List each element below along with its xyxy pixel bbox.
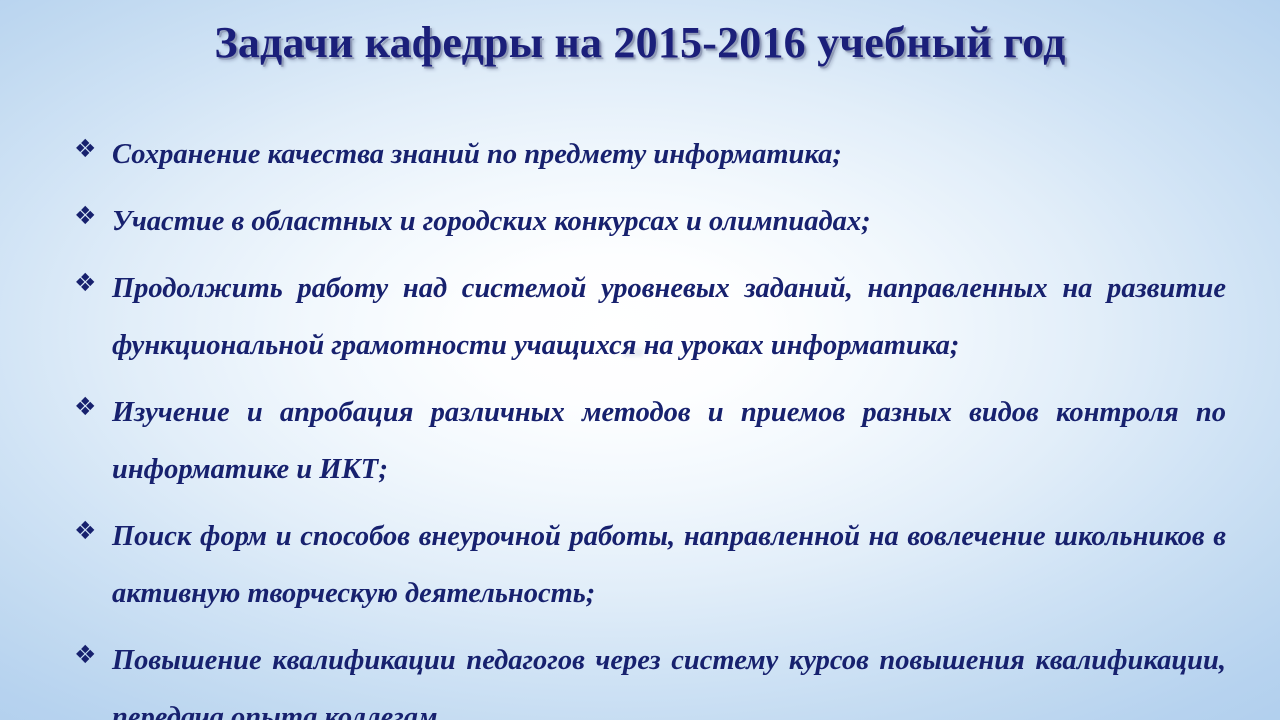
list-item-text: Повышение квалификации педагогов через с… (112, 632, 1226, 720)
list-item: ❖ Продолжить работу над системой уровнев… (74, 260, 1226, 374)
diamond-bullet-icon: ❖ (74, 193, 112, 239)
list-item: ❖ Повышение квалификации педагогов через… (74, 632, 1226, 720)
list-item: ❖ Участие в областных и городских конкур… (74, 193, 1226, 250)
presentation-slide: Задачи кафедры на 2015-2016 учебный год … (0, 0, 1280, 720)
slide-title-block: Задачи кафедры на 2015-2016 учебный год (0, 18, 1280, 68)
diamond-bullet-icon: ❖ (74, 632, 112, 678)
diamond-bullet-icon: ❖ (74, 260, 112, 306)
list-item-text: Продолжить работу над системой уровневых… (112, 260, 1226, 374)
list-item-text: Сохранение качества знаний по предмету и… (112, 126, 1226, 183)
page-title: Задачи кафедры на 2015-2016 учебный год (214, 18, 1065, 68)
list-item-text: Участие в областных и городских конкурса… (112, 193, 1226, 250)
list-item: ❖ Изучение и апробация различных методов… (74, 384, 1226, 498)
bullet-list: ❖ Сохранение качества знаний по предмету… (74, 126, 1226, 720)
diamond-bullet-icon: ❖ (74, 508, 112, 554)
list-item: ❖ Поиск форм и способов внеурочной работ… (74, 508, 1226, 622)
diamond-bullet-icon: ❖ (74, 384, 112, 430)
diamond-bullet-icon: ❖ (74, 126, 112, 172)
list-item: ❖ Сохранение качества знаний по предмету… (74, 126, 1226, 183)
list-item-text: Изучение и апробация различных методов и… (112, 384, 1226, 498)
list-item-text: Поиск форм и способов внеурочной работы,… (112, 508, 1226, 622)
